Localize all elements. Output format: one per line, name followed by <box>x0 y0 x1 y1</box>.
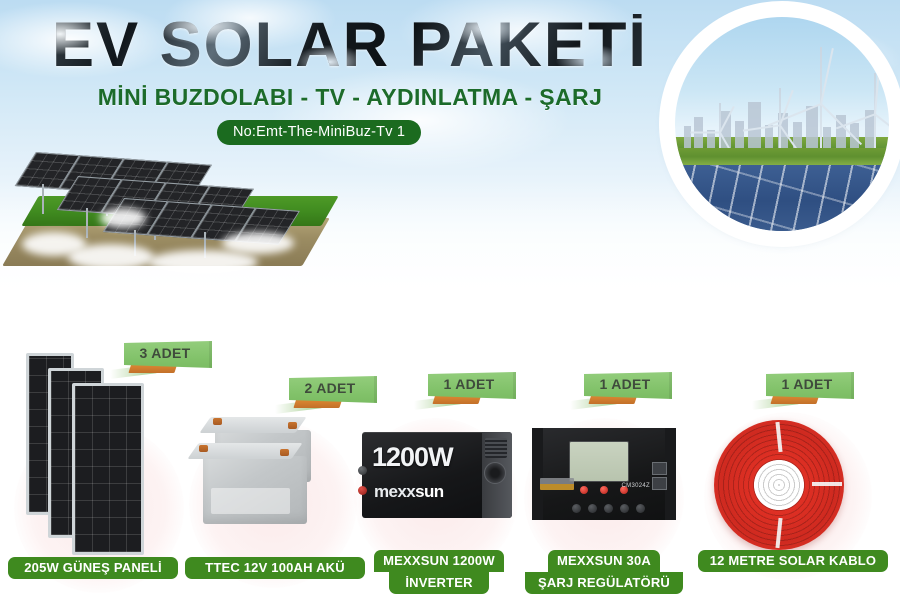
charge-controller-device: CM3024Z <box>532 428 676 520</box>
solar-panel-front <box>72 383 144 555</box>
controller-mount-left <box>532 428 543 520</box>
controller-key-3[interactable] <box>604 504 613 513</box>
quantity-ribbon-label: 1 ADET <box>766 376 848 392</box>
mist-cloud <box>222 232 294 254</box>
inverter-vent <box>485 438 507 458</box>
mist-cloud <box>100 208 146 228</box>
product-solar-panel[interactable]: 3 ADET 205W GÜNEŞ PANELİ <box>10 335 190 585</box>
ground-mount-solar-array-image <box>8 140 338 280</box>
quantity-ribbon-solar-panel: 3 ADET <box>124 341 212 371</box>
array-leg <box>86 208 88 238</box>
battery-front <box>203 456 307 524</box>
product-label-solar-panel: 205W GÜNEŞ PANELİ <box>8 557 178 579</box>
poster-canvas: EV SOLAR PAKETİ MİNİ BUZDOLABI - TV - AY… <box>0 0 900 600</box>
controller-lcd-screen <box>569 441 629 482</box>
product-label-line: TTEC 12V 100AH AKÜ <box>185 557 365 579</box>
product-battery[interactable]: 2 ADET TTEC 12V 100AH AKÜ <box>185 372 365 587</box>
product-label-line: MEXXSUN 30A <box>548 550 660 572</box>
product-solar-cable[interactable]: 1 ADET 12 METRE SOLAR KABLO <box>690 372 890 592</box>
inverter-positive-terminal <box>358 486 367 495</box>
product-inverter[interactable]: 1200W mexxsun 1 ADET MEXXSUN 1200W İNVER… <box>352 372 527 592</box>
product-label-battery: TTEC 12V 100AH AKÜ <box>185 557 365 579</box>
cable-tie <box>812 482 842 486</box>
controller-brand-mark <box>540 478 574 490</box>
product-label-line: 12 METRE SOLAR KABLO <box>698 550 888 572</box>
controller-model-text: CM3024Z <box>622 483 650 489</box>
product-label-solar-cable: 12 METRE SOLAR KABLO <box>698 550 888 572</box>
product-label-inverter: MEXXSUN 1200W İNVERTER <box>365 550 513 594</box>
product-charge-controller[interactable]: CM3024Z 1 ADET MEXXSUN 30A ŞARJ REGÜLATÖ… <box>518 372 693 592</box>
inverter-negative-terminal <box>358 466 367 475</box>
product-label-line: MEXXSUN 1200W <box>374 550 504 572</box>
controller-key-2[interactable] <box>588 504 597 513</box>
indicator-led-2 <box>600 486 608 494</box>
quantity-ribbon-solar-cable: 1 ADET <box>766 372 854 402</box>
mist-cloud <box>148 250 258 274</box>
page-title: EV SOLAR PAKETİ <box>30 14 670 77</box>
product-label-line: İNVERTER <box>389 572 489 594</box>
inverter-fan <box>484 462 506 484</box>
quantity-ribbon-charge-controller: 1 ADET <box>584 372 672 402</box>
cable-tie <box>775 422 782 452</box>
solar-cable-coil <box>714 420 844 550</box>
controller-key-1[interactable] <box>572 504 581 513</box>
mist-cloud <box>68 244 154 270</box>
quantity-ribbon-label: 3 ADET <box>124 345 206 361</box>
quantity-ribbon-label: 1 ADET <box>428 376 510 392</box>
renewable-energy-circle-image <box>666 8 898 240</box>
controller-key-5[interactable] <box>636 504 645 513</box>
usb-port-top[interactable] <box>652 462 667 475</box>
page-subtitle: MİNİ BUZDOLABI - TV - AYDINLATMA - ŞARJ <box>30 84 670 111</box>
solar-farm-panels <box>675 165 889 231</box>
array-leg <box>42 184 44 214</box>
cable-tie <box>775 518 782 548</box>
inverter-side-panel <box>482 432 512 518</box>
controller-key-4[interactable] <box>620 504 629 513</box>
product-label-line: ŞARJ REGÜLATÖRÜ <box>525 572 683 594</box>
product-label-line: 205W GÜNEŞ PANELİ <box>8 557 178 579</box>
quantity-ribbon-label: 1 ADET <box>584 376 666 392</box>
inverter-device: 1200W mexxsun <box>362 432 512 518</box>
inverter-power-text: 1200W <box>372 442 453 473</box>
inverter-brand-text: mexxsun <box>374 482 444 502</box>
indicator-led-1 <box>580 486 588 494</box>
quantity-ribbon-inverter: 1 ADET <box>428 372 516 402</box>
product-label-charge-controller: MEXXSUN 30A ŞARJ REGÜLATÖRÜ <box>524 550 684 594</box>
usb-port-bottom[interactable] <box>652 477 667 490</box>
